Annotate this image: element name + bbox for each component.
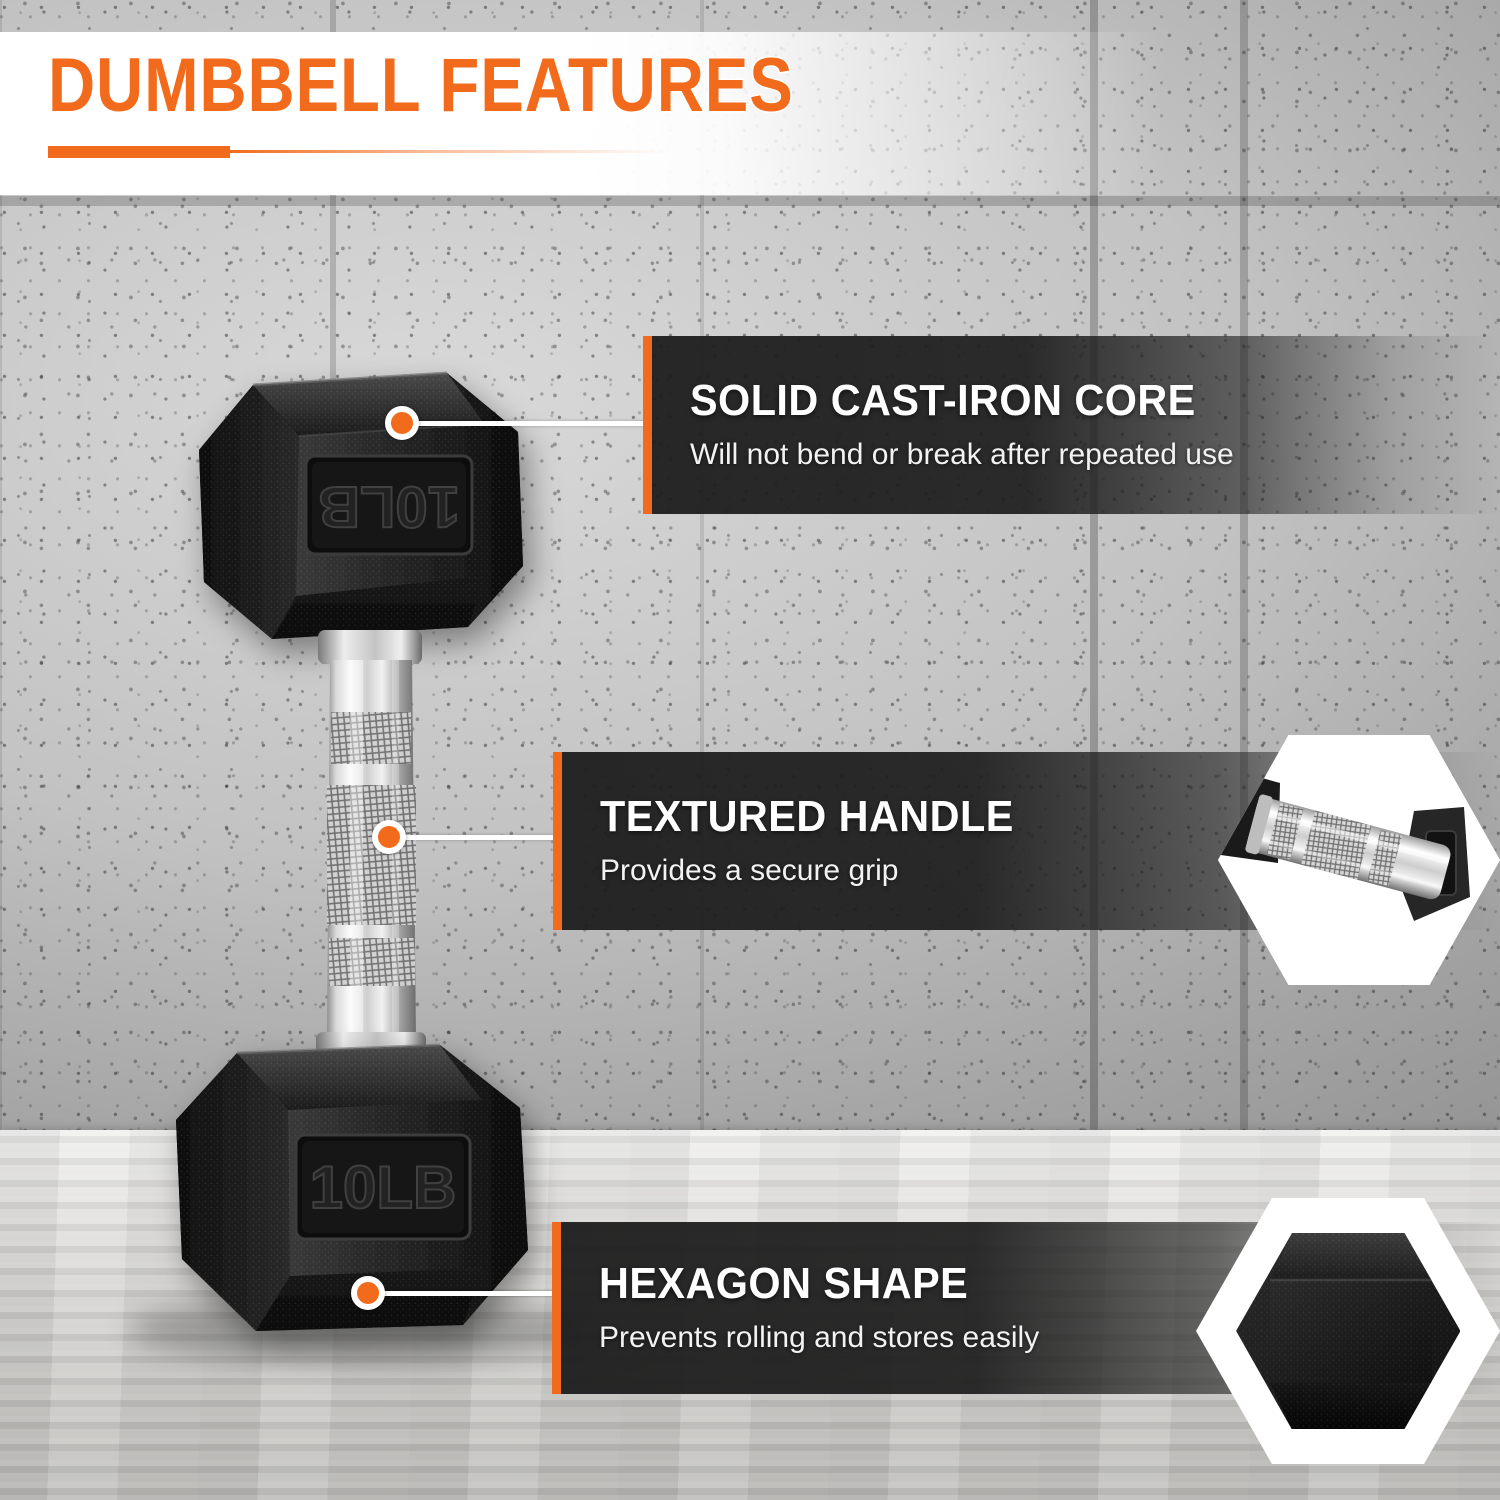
weight-label-top: 10LB [318,474,460,539]
inset-hex-mask [1218,735,1500,985]
feature-callout-solid-cast-iron-core: SOLID CAST-IRON CORE Will not bend or br… [643,336,1500,514]
weight-label-bottom: 10LB [310,1154,457,1221]
marker-dot-core[interactable] [385,406,419,440]
inset-hex-end-face [1196,1198,1500,1464]
callout-accent-bar [552,1222,561,1394]
callout-panel: SOLID CAST-IRON CORE Will not bend or br… [652,336,1500,514]
handle-closeup-illustration [1218,735,1500,985]
marker-dot-handle[interactable] [372,820,406,854]
callout-accent-bar [553,752,562,930]
leader-line-handle [389,835,555,840]
feature-title: SOLID CAST-IRON CORE [690,378,1451,424]
feature-subtitle: Will not bend or break after repeated us… [690,438,1500,473]
dumbbell-handle [316,630,426,1068]
leader-line-hexagon [368,1291,554,1296]
infographic-canvas: DUMBBELL FEATURES [0,0,1500,1500]
dumbbell-top-plate: 10LB [199,373,523,639]
marker-dot-hexagon[interactable] [351,1276,385,1310]
inset-handle-closeup [1218,735,1500,985]
leader-line-core [402,421,645,426]
callout-accent-bar [643,336,652,514]
